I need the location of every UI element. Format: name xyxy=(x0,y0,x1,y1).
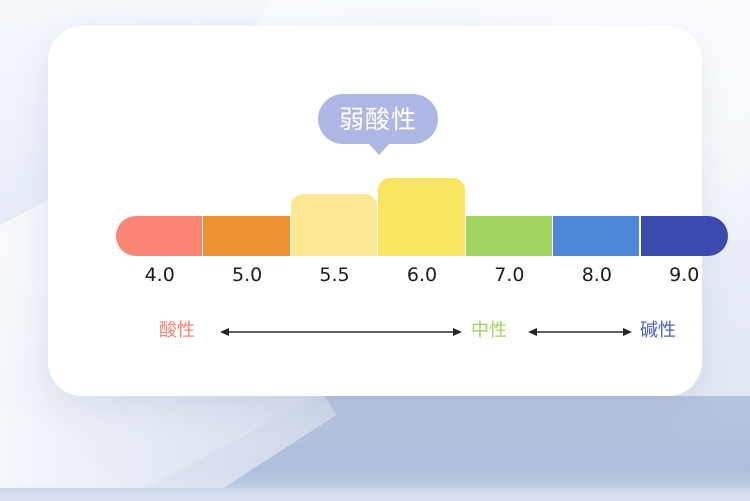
legend-label-acidic: 酸性 xyxy=(159,318,195,344)
arrow-neutral-to-alkaline-icon xyxy=(528,323,632,341)
ph-scale-label-6-0: 6.0 xyxy=(378,264,465,286)
ph-scale-label-5-0: 5.0 xyxy=(203,264,290,286)
ph-callout-tail-icon xyxy=(368,143,390,155)
ph-segment-5-0[interactable] xyxy=(203,216,289,256)
ph-scale-label-5-5: 5.5 xyxy=(291,264,378,286)
ph-scale-label-4-0: 4.0 xyxy=(116,264,203,286)
background-bottom-strip xyxy=(0,488,750,501)
ph-segment-4-0[interactable] xyxy=(116,216,202,256)
ph-segment-9-0[interactable] xyxy=(641,216,728,256)
ph-scale-card: 弱酸性 4.05.05.56.07.08.09.0 酸性 中性 碱性 xyxy=(48,26,702,396)
arrow-acidic-to-neutral-icon xyxy=(220,323,462,341)
ph-segment-8-0[interactable] xyxy=(553,216,639,256)
ph-callout-bubble: 弱酸性 xyxy=(318,94,438,144)
background-bottom-band xyxy=(0,396,750,501)
ph-callout-label: 弱酸性 xyxy=(339,107,417,132)
ph-scale-label-8-0: 8.0 xyxy=(553,264,640,286)
legend-label-neutral: 中性 xyxy=(471,318,507,344)
ph-segment-5-5[interactable] xyxy=(291,194,377,256)
ph-segment-7-0[interactable] xyxy=(466,216,552,256)
ph-legend-row: 酸性 中性 碱性 xyxy=(116,318,728,350)
ph-scale-numbers: 4.05.05.56.07.08.09.0 xyxy=(116,264,728,290)
legend-label-alkaline: 碱性 xyxy=(640,318,676,344)
ph-segment-6-0[interactable] xyxy=(378,178,464,256)
ph-color-bar xyxy=(116,176,728,256)
infographic-canvas: 弱酸性 4.05.05.56.07.08.09.0 酸性 中性 碱性 xyxy=(0,0,750,501)
ph-scale-label-7-0: 7.0 xyxy=(466,264,553,286)
ph-scale-label-9-0: 9.0 xyxy=(641,264,728,286)
